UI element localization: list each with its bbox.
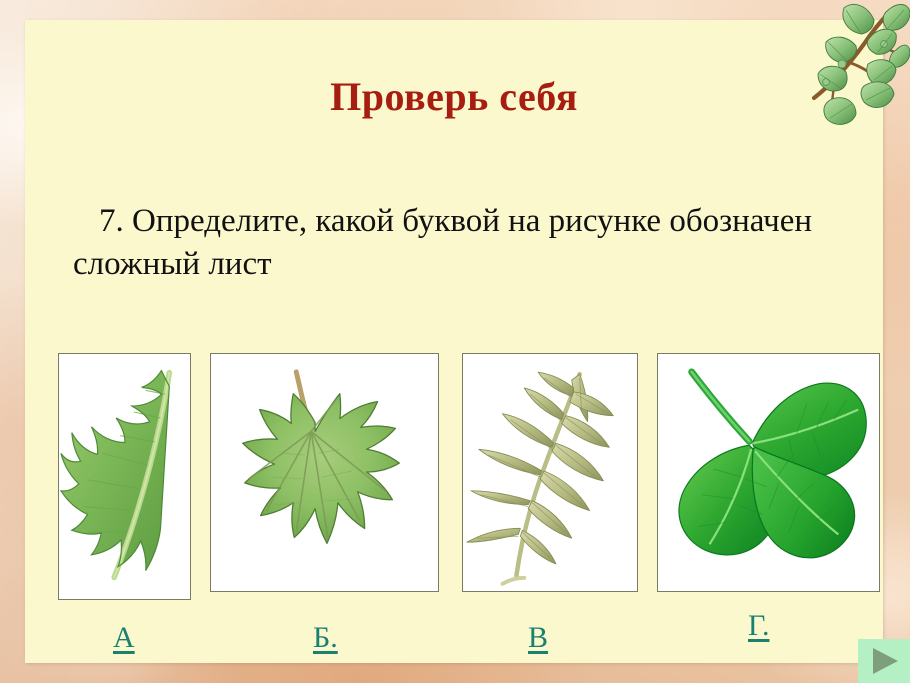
slide-root: Проверь себя 7. Определите, какой буквой… — [0, 0, 910, 683]
wormwood-leaf-shape — [467, 372, 613, 584]
leaf-image-a[interactable] — [58, 353, 191, 600]
page-title: Проверь себя — [25, 77, 883, 117]
clover-trifoliate-leaf-shape — [679, 372, 866, 558]
next-slide-button[interactable] — [858, 639, 910, 683]
question-text: 7. Определите, какой буквой на рисунке о… — [73, 200, 863, 286]
answer-link-b[interactable]: Б. — [313, 623, 338, 653]
leaf-image-b[interactable] — [210, 353, 439, 592]
answer-link-v[interactable]: В — [528, 623, 548, 653]
maple-leaf-shape — [243, 372, 400, 543]
play-triangle-icon — [873, 648, 898, 674]
content-card: Проверь себя 7. Определите, какой буквой… — [25, 20, 883, 663]
answer-link-a[interactable]: А — [113, 623, 135, 653]
dandelion-leaf-shape — [61, 371, 169, 578]
leaf-image-g[interactable] — [657, 353, 880, 592]
leaf-image-v[interactable] — [462, 353, 638, 592]
answer-link-g[interactable]: Г. — [748, 611, 769, 641]
